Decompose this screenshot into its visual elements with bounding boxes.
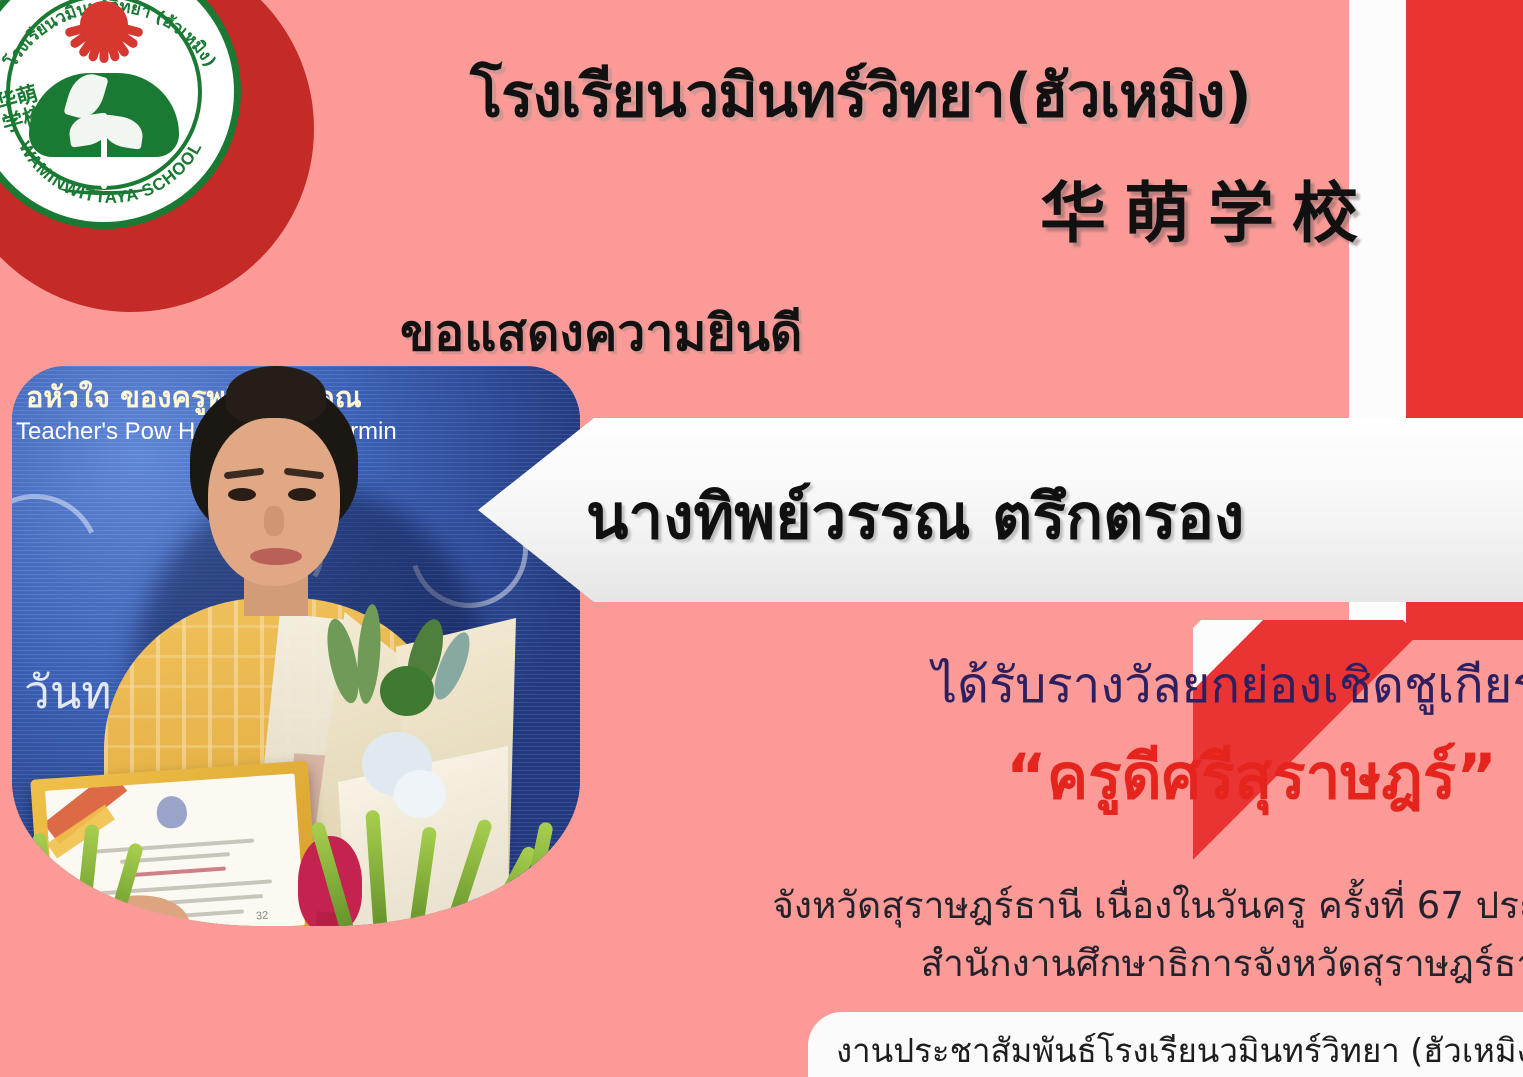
- award-line-1: ได้รับรางวัลยกย่องเชิดชูเกียรติ: [0, 646, 1523, 724]
- footer-credit: งานประชาสัมพันธ์โรงเรียนวมินทร์วิทยา (ฮั…: [836, 1024, 1516, 1077]
- logo-ground-icon: [58, 179, 150, 195]
- person-eye: [228, 488, 256, 501]
- person-hair-bun: [226, 366, 326, 424]
- person-nose: [264, 506, 284, 536]
- congratulation-poster: โรงเรียนวมินทร์วิทยา (ฮัวเหมิง) WAMINWIT…: [0, 0, 1523, 1077]
- award-detail-2: สำนักงานศึกษาธิการจังหวัดสุราษฎร์ธานี: [0, 934, 1523, 993]
- honoree-name: นางทิพย์วรรณ ตรึกตรอง: [586, 468, 1506, 566]
- congratulations-heading: ขอแสดงความยินดี: [400, 294, 802, 373]
- logo-red-disc: โรงเรียนวมินทร์วิทยา (ฮัวเหมิง) WAMINWIT…: [0, 0, 314, 312]
- school-logo: โรงเรียนวมินทร์วิทยา (ฮัวเหมิง) WAMINWIT…: [0, 0, 241, 229]
- person-mouth: [250, 548, 302, 565]
- award-title: “ครูดีศรีสุราษฎร์”: [0, 728, 1523, 826]
- person-eye: [288, 488, 316, 501]
- school-name-chinese: 华萌学校: [1040, 160, 1510, 256]
- award-detail-1: จังหวัดสุราษฎร์ธานี เนื่องในวันครู ครั้ง…: [0, 876, 1523, 935]
- school-name-thai: โรงเรียนวมินทร์วิทยา(ฮัวเหมิง): [470, 48, 1470, 143]
